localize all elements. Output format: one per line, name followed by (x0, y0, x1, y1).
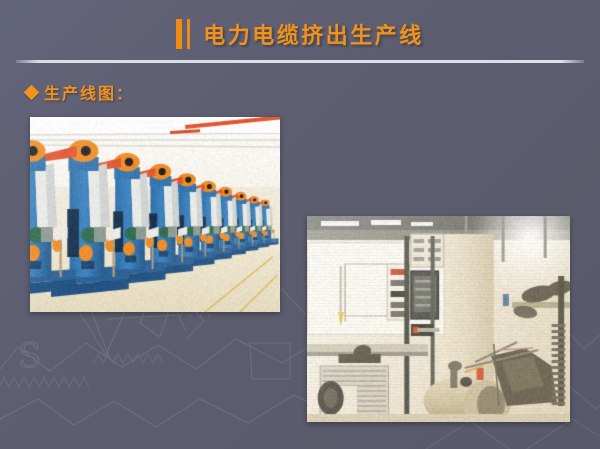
title-bar-thick (176, 19, 182, 49)
title-bar-thin (187, 19, 190, 49)
svg-text:S: S (18, 336, 41, 376)
factory-interior-photo (307, 216, 570, 422)
production-line-photo (30, 117, 280, 312)
section-heading: 生产线图： (26, 80, 134, 104)
page-title-text: 电力电缆挤出生产线 (203, 18, 424, 50)
diamond-icon (24, 84, 40, 100)
page-title: 电力电缆挤出生产线 (0, 14, 600, 54)
title-bar-marker (176, 19, 190, 49)
slide-root: S 电力电缆挤出生产线 生产线图： (0, 0, 600, 449)
factory-interior-photo-canvas (307, 216, 570, 422)
production-line-photo-canvas (30, 117, 280, 312)
header-divider (16, 60, 584, 63)
section-heading-text: 生产线图： (44, 80, 134, 104)
